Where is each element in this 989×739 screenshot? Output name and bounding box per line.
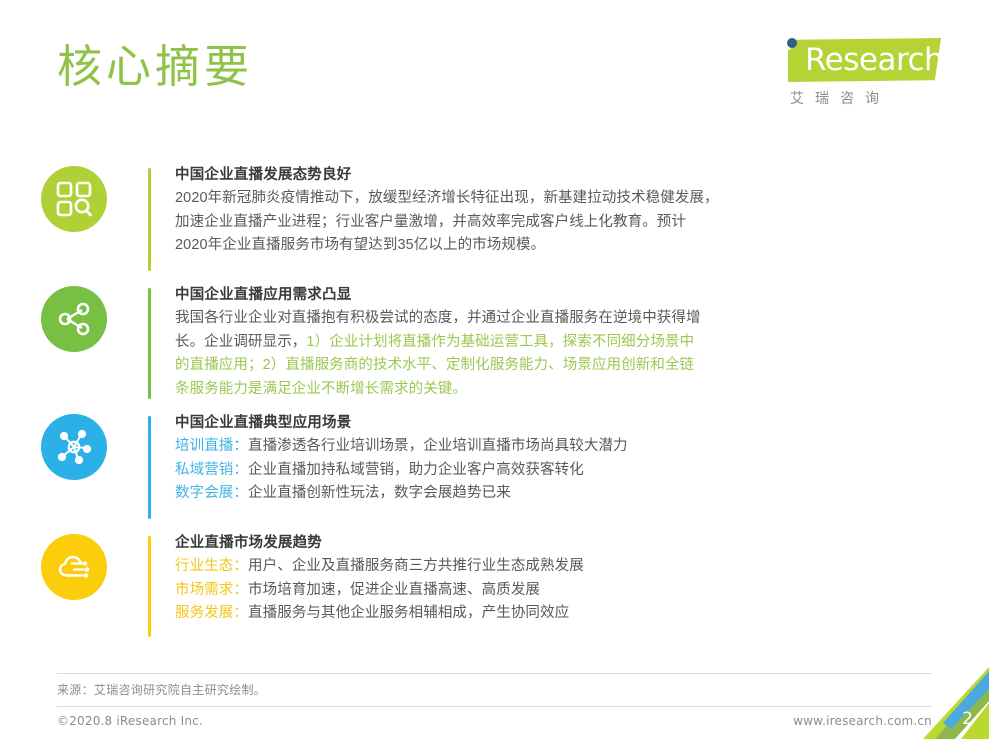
item-text: 直播服务与其他企业服务相辅相成，产生协同效应: [248, 605, 569, 621]
list-item: 市场需求：市场培育加速，促进企业直播高速、高质发展: [175, 579, 584, 602]
icon-column-4: [0, 531, 148, 600]
body-line: 2020年新冠肺炎疫情推动下，放缓型经济增长特征出现，新基建拉动技术稳健发展，: [175, 187, 719, 210]
block-body-4: 行业生态：用户、企业及直播服务商三方共推行业生态成熟发展 市场需求：市场培育加速…: [175, 555, 584, 625]
website-url: www.iresearch.com.cn: [793, 714, 932, 728]
page-number: 2: [962, 709, 973, 729]
body-line-highlight: 条服务能力是满足企业不断增长需求的关键。: [175, 378, 701, 401]
list-item: 服务发展：直播服务与其他企业服务相辅相成，产生协同效应: [175, 602, 584, 625]
body-text-highlight: 1）企业计划将直播作为基础运营工具，探索不同细分场景中: [306, 334, 694, 350]
logo-letter-i-stem: [788, 50, 796, 80]
item-text: 直播渗透各行业培训场景，企业培训直播市场尚具较大潜力: [248, 438, 628, 454]
list-item: 私域营销：企业直播加持私域营销，助力企业客户高效获客转化: [175, 459, 628, 482]
page-title: 核心摘要: [57, 42, 253, 92]
item-separator: ：: [233, 438, 248, 454]
item-label: 市场需求: [175, 582, 233, 598]
block-title-4: 企业直播市场发展趋势: [175, 532, 584, 554]
body-line: 加速企业直播产业进程；行业客户量激增，并高效率完成客户线上化教育。预计: [175, 211, 719, 234]
item-text: 企业直播加持私域营销，助力企业客户高效获客转化: [248, 462, 584, 478]
logo-mark: Research: [766, 38, 941, 84]
body-text-plain: 长。企业调研显示，: [175, 334, 306, 350]
list-item: 培训直播：直播渗透各行业培训场景，企业培训直播市场尚具较大潜力: [175, 435, 628, 458]
block-body-1: 2020年新冠肺炎疫情推动下，放缓型经济增长特征出现，新基建拉动技术稳健发展， …: [175, 187, 719, 257]
summary-block-2: 中国企业直播应用需求凸显 我国各行业企业对直播抱有积极尝试的态度，并通过企业直播…: [0, 283, 989, 405]
icon-column-3: [0, 411, 148, 480]
copyright-text: ©2020.8 iResearch Inc.: [57, 714, 203, 728]
body-line-highlight: 的直播应用；2）直播服务商的技术水平、定制化服务能力、场景应用创新和全链: [175, 354, 701, 377]
network-hub-icon: [41, 414, 107, 480]
item-separator: ：: [233, 558, 248, 574]
share-nodes-icon: [41, 286, 107, 352]
item-label: 私域营销: [175, 462, 233, 478]
body-line-mixed: 长。企业调研显示，1）企业计划将直播作为基础运营工具，探索不同细分场景中: [175, 331, 701, 354]
item-separator: ：: [233, 485, 248, 501]
footer-divider-top: [57, 673, 932, 674]
text-column-4: 企业直播市场发展趋势 行业生态：用户、企业及直播服务商三方共推行业生态成熟发展 …: [151, 531, 624, 626]
item-separator: ：: [233, 605, 248, 621]
list-item: 行业生态：用户、企业及直播服务商三方共推行业生态成熟发展: [175, 555, 584, 578]
item-text: 用户、企业及直播服务商三方共推行业生态成熟发展: [248, 558, 584, 574]
block-title-3: 中国企业直播典型应用场景: [175, 412, 628, 434]
summary-blocks: 中国企业直播发展态势良好 2020年新冠肺炎疫情推动下，放缓型经济增长特征出现，…: [0, 163, 989, 649]
block-body-2: 我国各行业企业对直播抱有积极尝试的态度，并通过企业直播服务在逆境中获得增 长。企…: [175, 307, 701, 401]
logo-chinese-name: 艾瑞咨询: [790, 88, 940, 108]
iresearch-logo: Research 艾瑞咨询: [766, 38, 941, 116]
slide: 核心摘要 Research 艾瑞咨询: [0, 0, 989, 739]
body-line: 我国各行业企业对直播抱有积极尝试的态度，并通过企业直播服务在逆境中获得增: [175, 307, 701, 330]
list-item: 数字会展：企业直播创新性玩法，数字会展趋势已来: [175, 482, 628, 505]
block-body-3: 培训直播：直播渗透各行业培训场景，企业培训直播市场尚具较大潜力 私域营销：企业直…: [175, 435, 628, 505]
logo-letter-i-dot: [787, 38, 797, 48]
block-title-1: 中国企业直播发展态势良好: [175, 164, 719, 186]
item-label: 行业生态: [175, 558, 233, 574]
corner-decoration: [921, 667, 989, 739]
item-text: 企业直播创新性玩法，数字会展趋势已来: [248, 485, 511, 501]
body-line: 2020年企业直播服务市场有望达到35亿以上的市场规模。: [175, 234, 719, 257]
item-label: 服务发展: [175, 605, 233, 621]
source-note: 来源：艾瑞咨询研究院自主研究绘制。: [57, 681, 266, 698]
icon-column-1: [0, 163, 148, 232]
text-column-1: 中国企业直播发展态势良好 2020年新冠肺炎疫情推动下，放缓型经济增长特征出现，…: [151, 163, 759, 258]
summary-block-1: 中国企业直播发展态势良好 2020年新冠肺炎疫情推动下，放缓型经济增长特征出现，…: [0, 163, 989, 277]
item-separator: ：: [233, 462, 248, 478]
item-text: 市场培育加速，促进企业直播高速、高质发展: [248, 582, 540, 598]
item-label: 数字会展: [175, 485, 233, 501]
summary-block-3: 中国企业直播典型应用场景 培训直播：直播渗透各行业培训场景，企业培训直播市场尚具…: [0, 411, 989, 525]
text-column-3: 中国企业直播典型应用场景 培训直播：直播渗透各行业培训场景，企业培训直播市场尚具…: [151, 411, 668, 506]
footer-divider-bottom: [57, 706, 932, 707]
text-column-2: 中国企业直播应用需求凸显 我国各行业企业对直播抱有积极尝试的态度，并通过企业直播…: [151, 283, 741, 401]
cloud-tech-icon: [41, 534, 107, 600]
grid-search-icon: [41, 166, 107, 232]
item-label: 培训直播: [175, 438, 233, 454]
item-separator: ：: [233, 582, 248, 598]
block-title-2: 中国企业直播应用需求凸显: [175, 284, 701, 306]
summary-block-4: 企业直播市场发展趋势 行业生态：用户、企业及直播服务商三方共推行业生态成熟发展 …: [0, 531, 989, 643]
icon-column-2: [0, 283, 148, 352]
logo-wordmark: Research: [805, 42, 943, 78]
